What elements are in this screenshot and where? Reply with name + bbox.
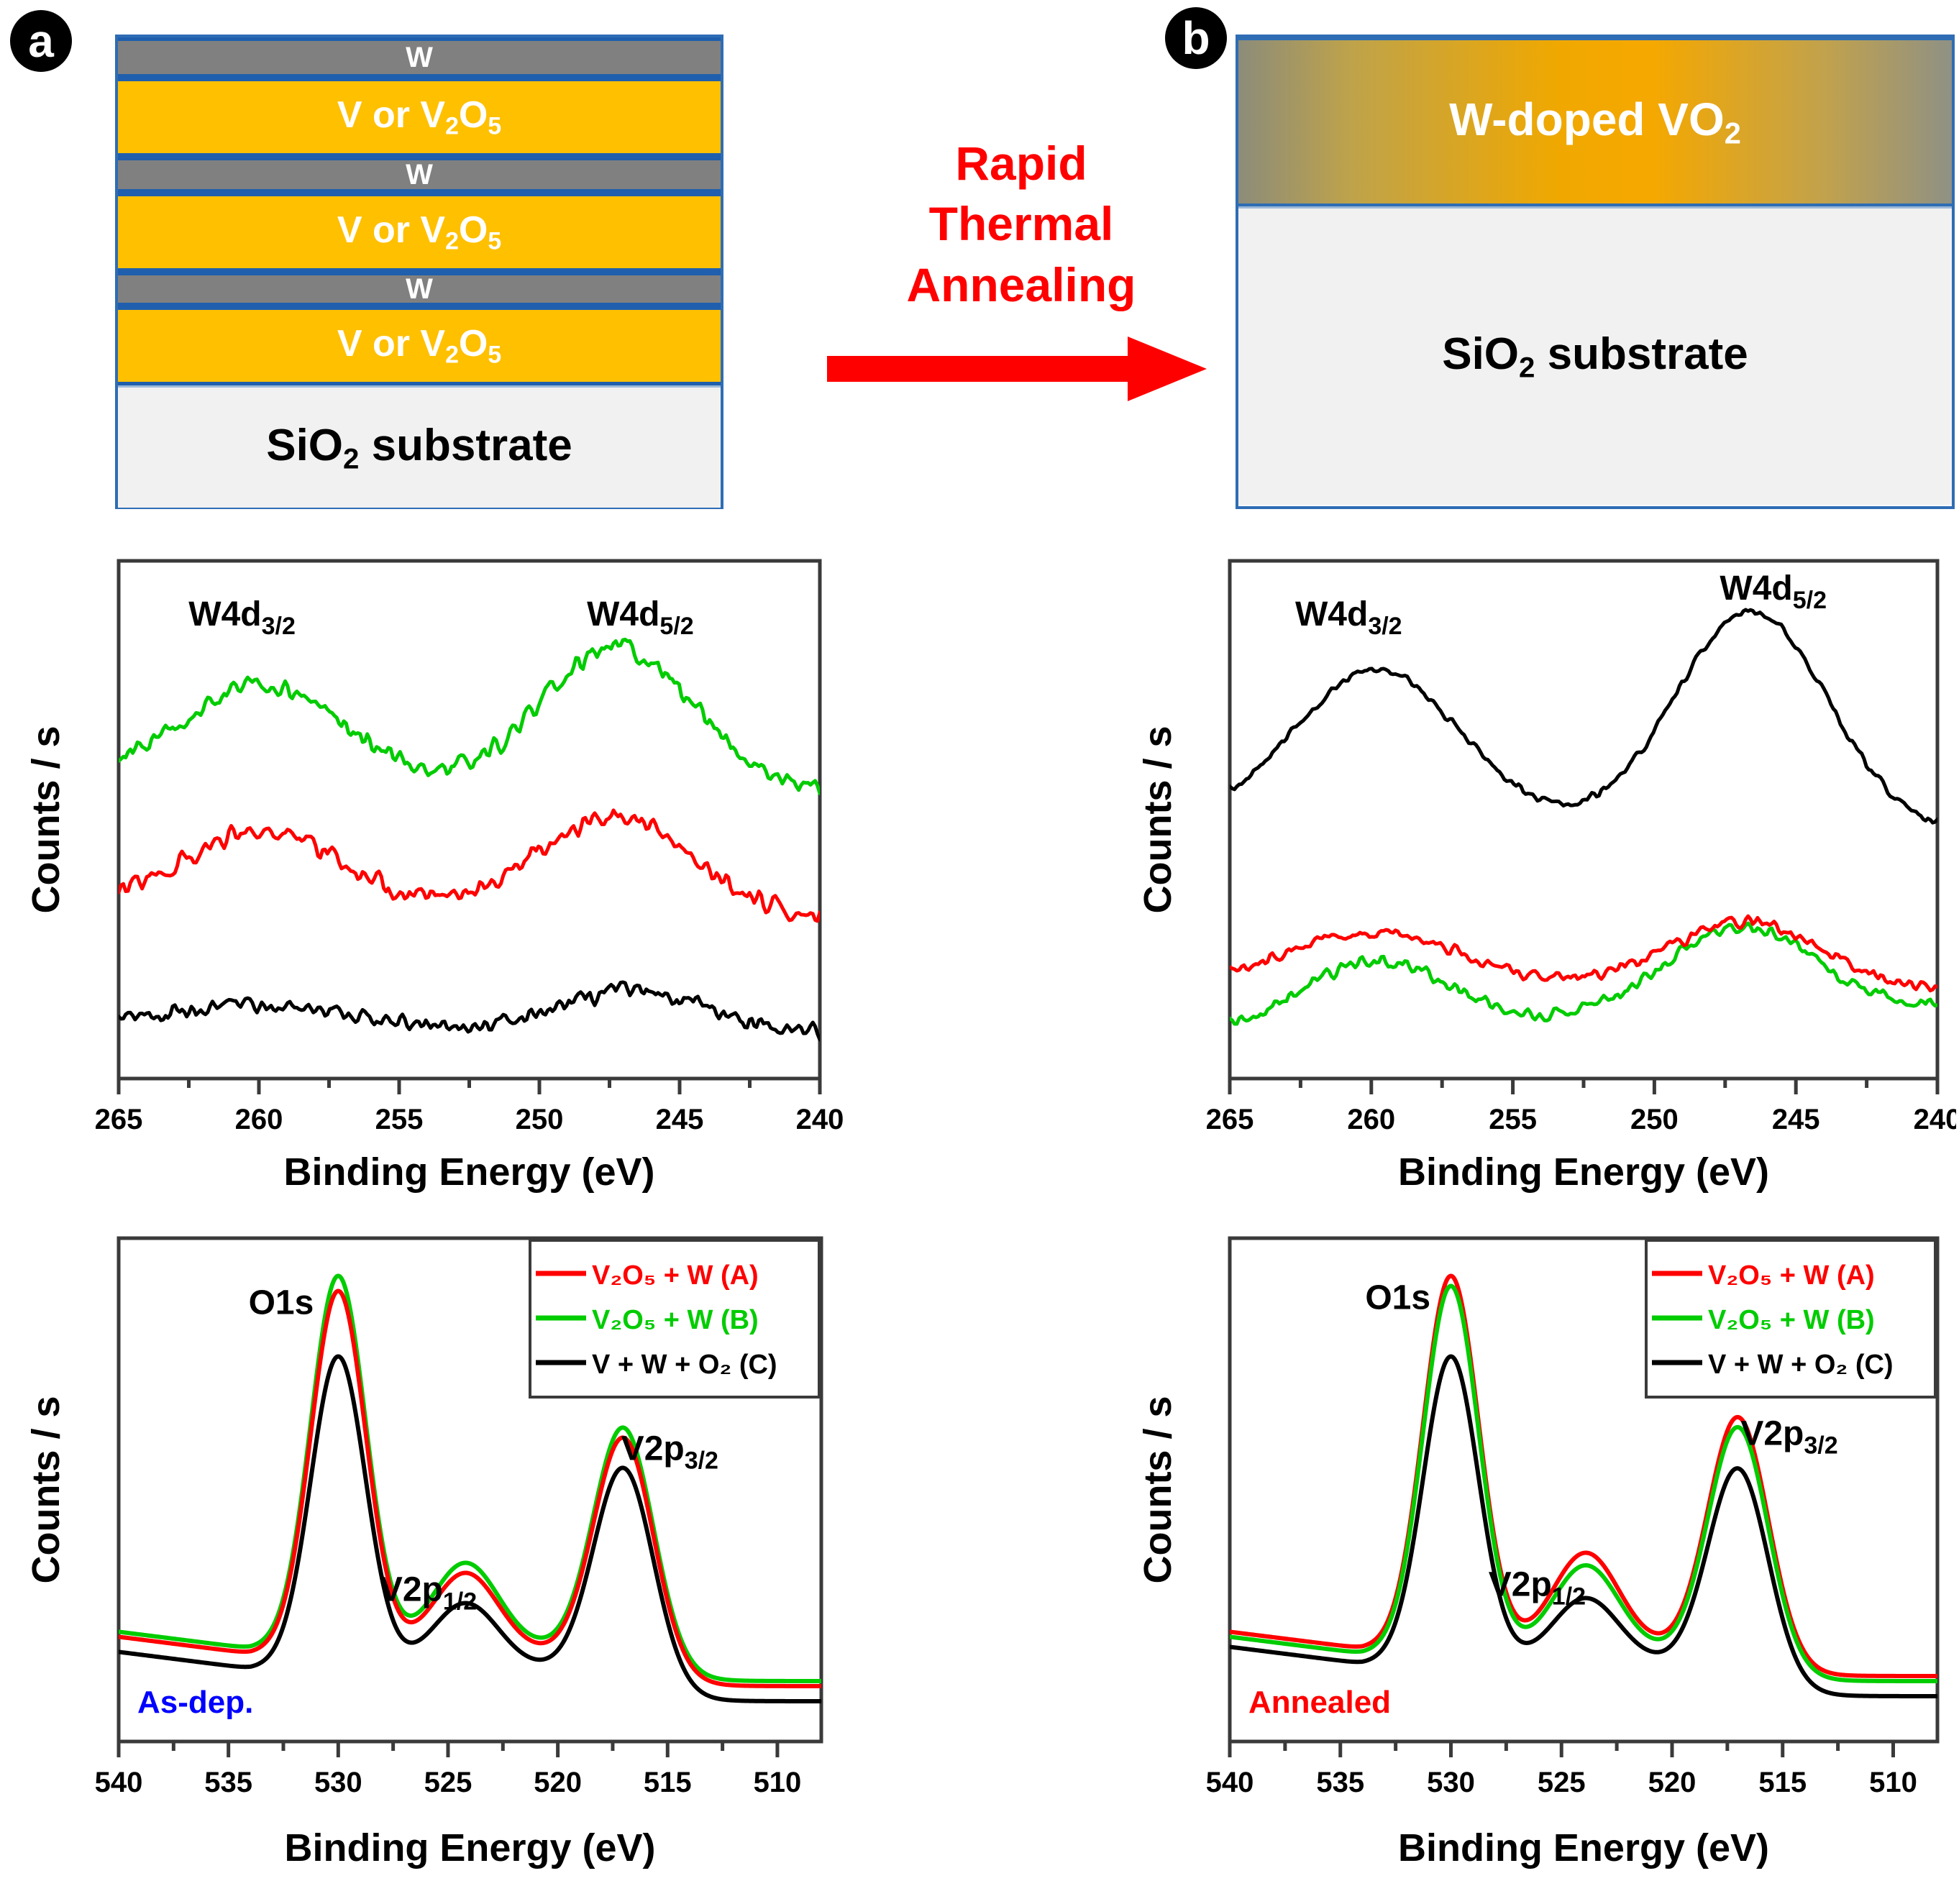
layer-label: W bbox=[406, 42, 433, 74]
x-axis-tick-label: 250 bbox=[516, 1104, 564, 1135]
x-axis-tick-label: 540 bbox=[95, 1767, 143, 1798]
schematic-multilayer-stack: WV or V2O5WV or V2O5WV or V2O5SiO2 subst… bbox=[115, 35, 723, 509]
y-axis-title: Counts / s bbox=[24, 1396, 68, 1583]
state-label: As-dep. bbox=[137, 1685, 253, 1720]
legend-label: V₂O₅ + W (A) bbox=[1708, 1260, 1875, 1291]
layer-label: W bbox=[406, 159, 433, 191]
x-axis-tick-label: 255 bbox=[375, 1104, 424, 1135]
x-axis-tick-label: 260 bbox=[1347, 1104, 1395, 1135]
x-axis-tick-label: 535 bbox=[1316, 1767, 1364, 1798]
chart-w4d-as-deposited: 265260255250245240Binding Energy (eV)Cou… bbox=[14, 546, 877, 1194]
layer-sio2-substrate: SiO2 substrate bbox=[1238, 206, 1952, 505]
x-axis-tick-label: 520 bbox=[534, 1767, 582, 1798]
x-axis-tick-label: 535 bbox=[204, 1767, 252, 1798]
x-axis-tick-label: 515 bbox=[644, 1767, 692, 1798]
x-axis-tick-label: 240 bbox=[1914, 1104, 1956, 1135]
layer-label: V or V2O5 bbox=[337, 322, 501, 369]
rta-line-1: Rapid bbox=[845, 133, 1197, 193]
panel-letter-a: a bbox=[10, 10, 72, 72]
x-axis-title: Binding Energy (eV) bbox=[284, 1826, 655, 1869]
x-axis-tick-label: 525 bbox=[1538, 1767, 1586, 1798]
layer-sio2-substrate: SiO2 substrate bbox=[118, 385, 721, 508]
legend-label: V + W + O₂ (C) bbox=[592, 1350, 777, 1380]
layer-label: V or V2O5 bbox=[337, 93, 501, 140]
x-axis-tick-label: 265 bbox=[1206, 1104, 1254, 1135]
y-axis-title: Counts / s bbox=[1136, 726, 1179, 913]
legend-label: V₂O₅ + W (B) bbox=[592, 1305, 759, 1335]
x-axis-tick-label: 250 bbox=[1630, 1104, 1679, 1135]
figure-root: a WV or V2O5WV or V2O5WV or V2O5SiO2 sub… bbox=[0, 0, 1959, 1904]
film-label: W-doped VO2 bbox=[1449, 93, 1741, 151]
x-axis-tick-label: 520 bbox=[1648, 1767, 1697, 1798]
x-axis-tick-label: 530 bbox=[314, 1767, 362, 1798]
y-axis-title: Counts / s bbox=[24, 726, 68, 913]
rta-line-3: Annealing bbox=[845, 255, 1197, 315]
layer-tungsten: W bbox=[118, 272, 721, 306]
legend-label: V + W + O₂ (C) bbox=[1708, 1350, 1894, 1380]
layer-w-doped-vo2: W-doped VO2 bbox=[1238, 37, 1952, 206]
chart-w4d-annealed: 265260255250245240Binding Energy (eV)Cou… bbox=[1129, 546, 1956, 1194]
y-axis-title: Counts / s bbox=[1136, 1396, 1179, 1583]
panel-letter-b: b bbox=[1165, 7, 1227, 69]
x-axis-tick-label: 265 bbox=[95, 1104, 143, 1135]
layer-vanadium-oxide: V or V2O5 bbox=[118, 306, 721, 385]
chart-survey-as-deposited: 540535530525520515510Binding Energy (eV)… bbox=[14, 1222, 877, 1869]
rta-line-2: Thermal bbox=[845, 193, 1197, 254]
x-axis-title: Binding Energy (eV) bbox=[1398, 1826, 1769, 1869]
x-axis-tick-label: 525 bbox=[424, 1767, 472, 1798]
chart-survey-annealed: 540535530525520515510Binding Energy (eV)… bbox=[1129, 1222, 1956, 1869]
x-axis-tick-label: 540 bbox=[1206, 1767, 1254, 1798]
x-axis-tick-label: 510 bbox=[1869, 1767, 1917, 1798]
plot-frame bbox=[1230, 561, 1937, 1079]
peak-annotation: O1s bbox=[249, 1284, 314, 1322]
layer-label: W bbox=[406, 273, 433, 306]
layer-tungsten: W bbox=[118, 37, 721, 78]
x-axis-tick-label: 510 bbox=[754, 1767, 802, 1798]
legend-label: V₂O₅ + W (B) bbox=[1708, 1305, 1875, 1335]
x-axis-tick-label: 245 bbox=[1772, 1104, 1820, 1135]
x-axis-tick-label: 530 bbox=[1427, 1767, 1475, 1798]
layer-tungsten: W bbox=[118, 157, 721, 193]
x-axis-tick-label: 255 bbox=[1489, 1104, 1537, 1135]
x-axis-title: Binding Energy (eV) bbox=[283, 1150, 654, 1194]
layer-label: V or V2O5 bbox=[337, 209, 501, 255]
substrate-label: SiO2 substrate bbox=[266, 420, 572, 475]
process-arrow bbox=[827, 329, 1215, 412]
layer-vanadium-oxide: V or V2O5 bbox=[118, 193, 721, 272]
state-label: Annealed bbox=[1248, 1685, 1391, 1720]
x-axis-tick-label: 260 bbox=[235, 1104, 283, 1135]
x-axis-title: Binding Energy (eV) bbox=[1398, 1150, 1769, 1194]
x-axis-tick-label: 245 bbox=[656, 1104, 704, 1135]
substrate-label: SiO2 substrate bbox=[1442, 329, 1748, 384]
x-axis-tick-label: 240 bbox=[796, 1104, 844, 1135]
layer-vanadium-oxide: V or V2O5 bbox=[118, 78, 721, 157]
rapid-thermal-annealing-label: Rapid Thermal Annealing bbox=[845, 133, 1197, 315]
schematic-annealed-stack: W-doped VO2SiO2 substrate bbox=[1236, 35, 1955, 509]
x-axis-tick-label: 515 bbox=[1758, 1767, 1807, 1798]
legend-label: V₂O₅ + W (A) bbox=[592, 1260, 759, 1291]
peak-annotation: O1s bbox=[1365, 1279, 1430, 1317]
